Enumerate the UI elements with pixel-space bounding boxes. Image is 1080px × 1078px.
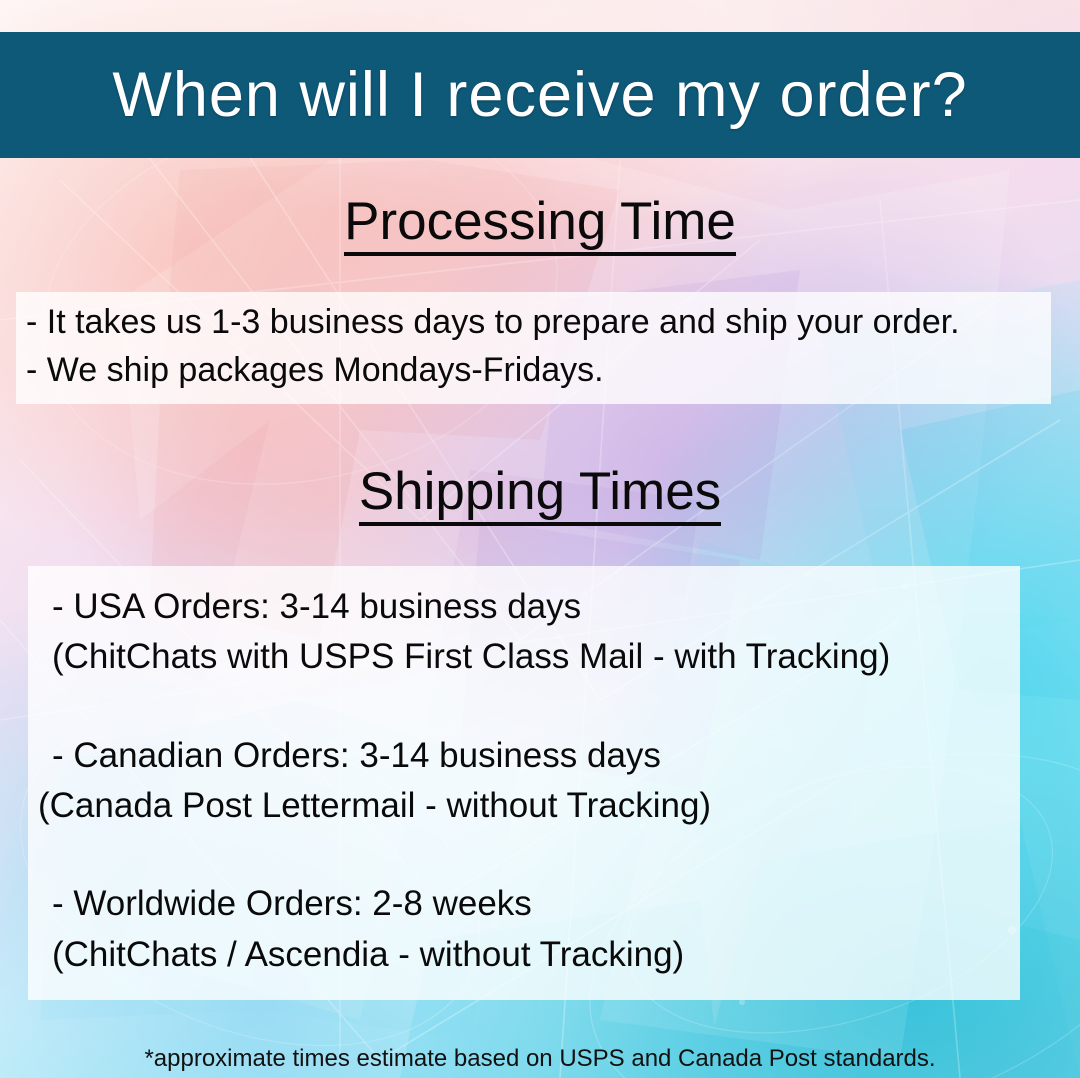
processing-line: - We ship packages Mondays-Fridays. [16,346,1051,394]
shipping-group-usa: - USA Orders: 3-14 business days (ChitCh… [28,582,1020,683]
shipping-group-title: - USA Orders: 3-14 business days [38,582,1020,632]
shipping-group-detail: (ChitChats with USPS First Class Mail - … [38,632,1020,682]
processing-time-block: - It takes us 1-3 business days to prepa… [16,292,1051,405]
shipping-times-heading-text: Shipping Times [359,464,721,526]
disclaimer-note: *approximate times estimate based on USP… [0,1042,1080,1078]
processing-line: - It takes us 1-3 business days to prepa… [16,298,1051,346]
shipping-times-heading: Shipping Times [0,464,1080,526]
disclaimer-line: *approximate times estimate based on USP… [60,1042,1020,1077]
header-banner: When will I receive my order? [0,32,1080,158]
processing-time-heading: Processing Time [0,194,1080,256]
shipping-group-title: - Canadian Orders: 3-14 business days [38,731,1020,781]
page-title: When will I receive my order? [112,64,967,127]
poster-content: Processing Time - It takes us 1-3 busine… [0,0,1080,1078]
shipping-group-title: - Worldwide Orders: 2-8 weeks [38,879,1020,929]
shipping-info-poster: When will I receive my order? Processing… [0,0,1080,1078]
shipping-group-detail: (ChitChats / Ascendia - without Tracking… [38,930,1020,980]
shipping-group-detail: (Canada Post Lettermail - without Tracki… [38,781,1020,831]
shipping-group-worldwide: - Worldwide Orders: 2-8 weeks (ChitChats… [28,879,1020,980]
processing-time-heading-text: Processing Time [344,194,736,256]
shipping-times-block: - USA Orders: 3-14 business days (ChitCh… [28,566,1020,1000]
shipping-group-canada: - Canadian Orders: 3-14 business days (C… [28,731,1020,832]
